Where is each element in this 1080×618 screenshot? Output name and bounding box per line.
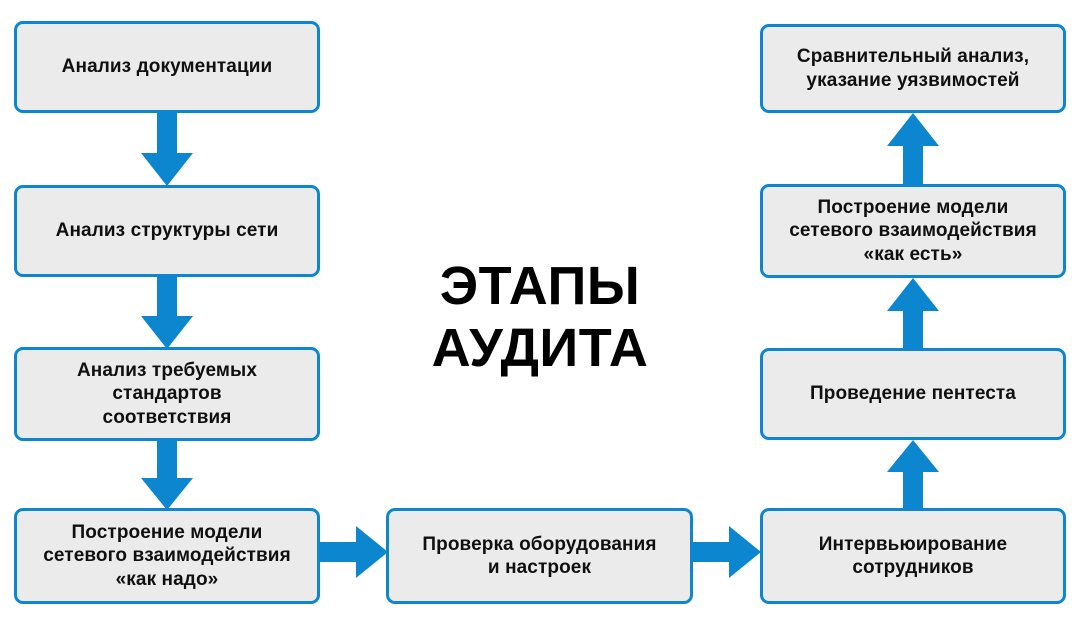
arrow-model-as-is-to-comparison <box>887 113 939 185</box>
node-doc-analysis[interactable]: Анализ документации <box>14 21 320 113</box>
arrow-model-to-be-to-equipment <box>319 526 388 578</box>
page-title-text: ЭТАПЫ АУДИТА <box>432 256 649 379</box>
arrow-standards-to-model-to-be <box>141 441 193 510</box>
node-label: Интервьюирование сотрудников <box>819 533 1007 579</box>
node-label: Сравнительный анализ, указание уязвимост… <box>797 45 1029 91</box>
node-label: Построение модели сетевого взаимодействи… <box>43 521 291 591</box>
node-staff-interviews[interactable]: Интервьюирование сотрудников <box>760 508 1066 604</box>
arrow-doc-to-network <box>141 113 193 186</box>
node-pentest[interactable]: Проведение пентеста <box>760 348 1066 440</box>
arrow-staff-to-pentest <box>887 440 939 509</box>
node-equipment-check[interactable]: Проверка оборудования и настроек <box>386 508 693 604</box>
node-required-standards[interactable]: Анализ требуемых стандартов соответствия <box>14 347 320 441</box>
node-label: Проведение пентеста <box>810 382 1016 405</box>
arrow-network-to-standards <box>141 277 193 349</box>
node-comparative-analysis[interactable]: Сравнительный анализ, указание уязвимост… <box>760 24 1066 113</box>
node-network-structure[interactable]: Анализ структуры сети <box>14 185 320 277</box>
node-label: Построение модели сетевого взаимодействи… <box>789 196 1037 266</box>
node-model-as-is[interactable]: Построение модели сетевого взаимодействи… <box>760 184 1066 278</box>
node-label: Анализ структуры сети <box>56 219 279 242</box>
node-label: Анализ требуемых стандартов соответствия <box>77 359 257 429</box>
node-label: Анализ документации <box>62 55 273 78</box>
arrow-equipment-to-staff <box>692 526 761 578</box>
page-title: ЭТАПЫ АУДИТА <box>370 192 710 380</box>
node-label: Проверка оборудования и настроек <box>422 533 656 579</box>
arrow-pentest-to-model-as-is <box>887 278 939 349</box>
flowchart-canvas: Анализ документации Анализ структуры сет… <box>0 0 1080 618</box>
node-model-to-be[interactable]: Построение модели сетевого взаимодействи… <box>14 508 320 604</box>
